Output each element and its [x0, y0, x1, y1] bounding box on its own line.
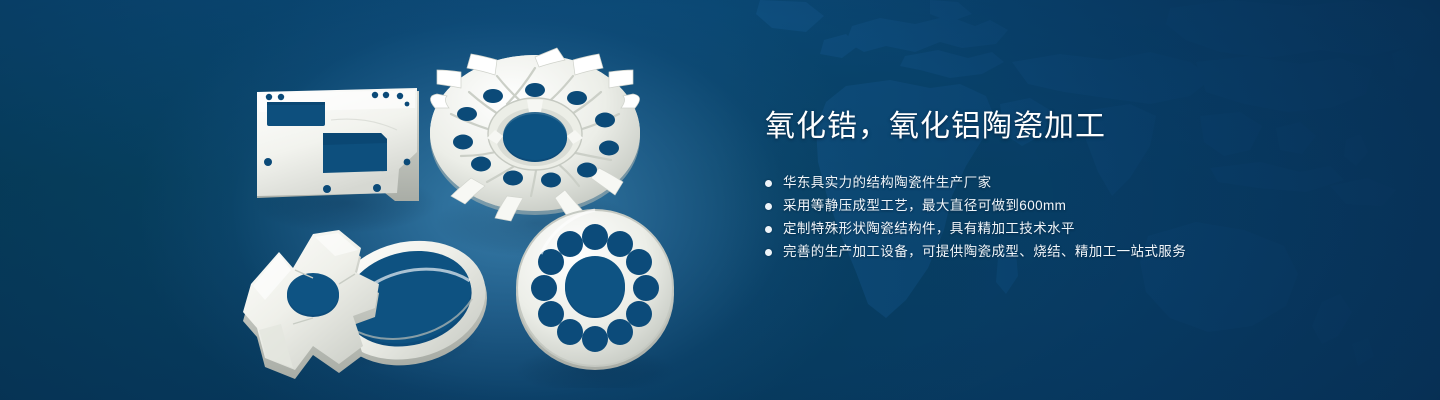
banner-copy: 氧化锆，氧化铝陶瓷加工 华东具实力的结构陶瓷件生产厂家 采用等静压成型工艺，最大… — [765, 108, 1385, 264]
feature-list-item: 采用等静压成型工艺，最大直径可做到600mm — [765, 195, 1385, 217]
feature-text: 完善的生产加工设备，可提供陶瓷成型、烧结、精加工一站式服务 — [783, 241, 1186, 263]
hero-banner: 氧化锆，氧化铝陶瓷加工 华东具实力的结构陶瓷件生产厂家 采用等静压成型工艺，最大… — [0, 0, 1440, 400]
bullet-dot-icon — [765, 180, 772, 187]
bullet-dot-icon — [765, 203, 772, 210]
banner-headline: 氧化锆，氧化铝陶瓷加工 — [765, 108, 1385, 146]
ceramic-products-image — [235, 38, 705, 388]
feature-list-item: 完善的生产加工设备，可提供陶瓷成型、烧结、精加工一站式服务 — [765, 241, 1385, 263]
feature-list-item: 定制特殊形状陶瓷结构件，具有精加工技术水平 — [765, 218, 1385, 240]
ceramic-perforated-disc — [516, 210, 674, 370]
feature-list-item: 华东具实力的结构陶瓷件生产厂家 — [765, 172, 1385, 194]
feature-text: 采用等静压成型工艺，最大直径可做到600mm — [783, 195, 1066, 217]
bullet-dot-icon — [765, 226, 772, 233]
feature-text: 定制特殊形状陶瓷结构件，具有精加工技术水平 — [783, 218, 1075, 240]
ceramic-cross-plate — [243, 230, 379, 379]
bullet-dot-icon — [765, 249, 772, 256]
ceramic-impeller-wheel — [430, 48, 640, 221]
ceramic-plate-with-cutouts — [257, 88, 419, 201]
feature-list: 华东具实力的结构陶瓷件生产厂家 采用等静压成型工艺，最大直径可做到600mm 定… — [765, 172, 1385, 263]
feature-text: 华东具实力的结构陶瓷件生产厂家 — [783, 172, 992, 194]
